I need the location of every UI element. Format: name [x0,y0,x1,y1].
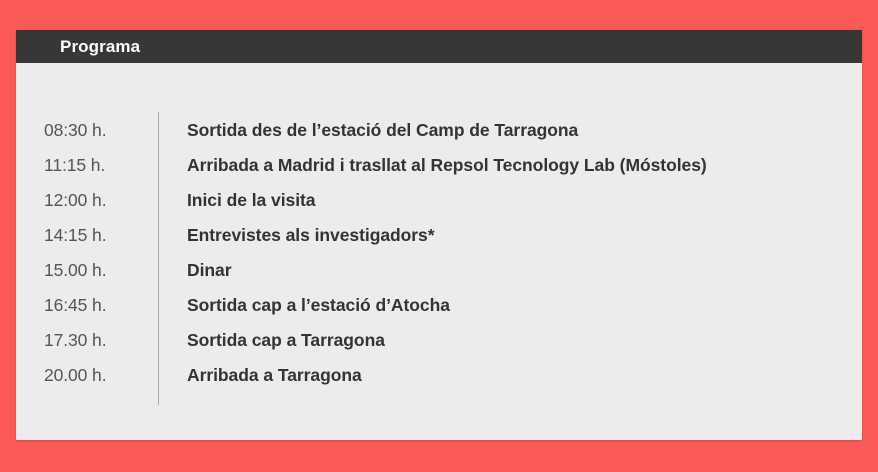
schedule-description: Sortida cap a l’estació d’Atocha [138,295,450,316]
panel-header-bar: Programa [16,30,862,63]
schedule-row: 14:15 h. Entrevistes als investigadors* [16,225,862,260]
schedule-description: Sortida des de l’estació del Camp de Tar… [138,120,578,141]
schedule-section: 08:30 h. Sortida des de l’estació del Ca… [16,63,862,440]
schedule-time: 15.00 h. [16,260,138,281]
slide-frame: Programa 08:30 h. Sortida des de l’estac… [0,0,878,472]
schedule-time: 11:15 h. [16,155,138,176]
schedule-row: 12:00 h. Inici de la visita [16,190,862,225]
schedule-time: 17.30 h. [16,330,138,351]
schedule-time: 12:00 h. [16,190,138,211]
schedule-description: Inici de la visita [138,190,315,211]
schedule-row: 11:15 h. Arribada a Madrid i trasllat al… [16,155,862,190]
schedule-time: 16:45 h. [16,295,138,316]
schedule-description: Entrevistes als investigadors* [138,225,435,246]
schedule-rows: 08:30 h. Sortida des de l’estació del Ca… [16,120,862,400]
schedule-description: Arribada a Tarragona [138,365,362,386]
schedule-description: Arribada a Madrid i trasllat al Repsol T… [138,155,707,176]
page-title: Programa [60,38,140,55]
programa-panel: Programa 08:30 h. Sortida des de l’estac… [16,30,862,440]
schedule-row: 16:45 h. Sortida cap a l’estació d’Atoch… [16,295,862,330]
schedule-description: Dinar [138,260,231,281]
schedule-row: 15.00 h. Dinar [16,260,862,295]
schedule-description: Sortida cap a Tarragona [138,330,385,351]
schedule-time: 14:15 h. [16,225,138,246]
schedule-time: 08:30 h. [16,120,138,141]
schedule-row: 08:30 h. Sortida des de l’estació del Ca… [16,120,862,155]
schedule-row: 20.00 h. Arribada a Tarragona [16,365,862,400]
schedule-time: 20.00 h. [16,365,138,386]
schedule-row: 17.30 h. Sortida cap a Tarragona [16,330,862,365]
